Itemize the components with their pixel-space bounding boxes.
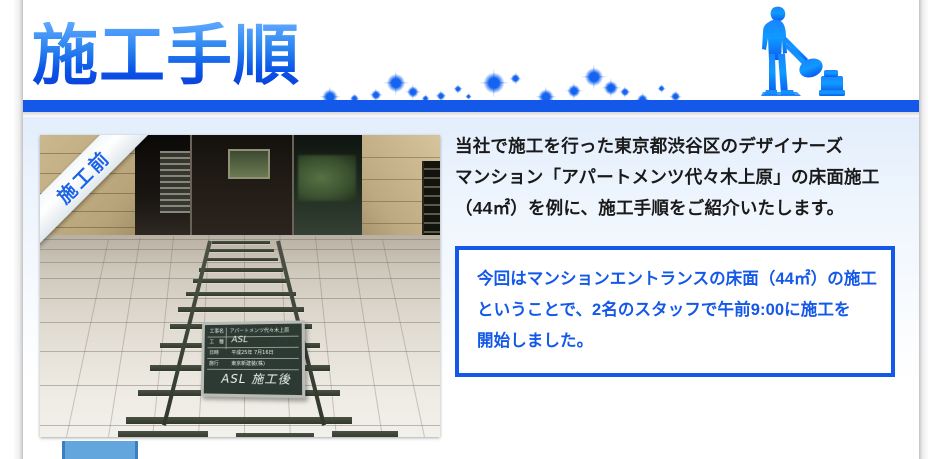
sparkle-star-icon [509, 72, 522, 85]
sparkle-star-icon [453, 84, 463, 94]
sparkle-star-icon [601, 78, 621, 98]
blackboard-label-koujimei: 工事名 [209, 327, 223, 338]
page-right-edge-shadow [920, 0, 942, 459]
sparkle-star-icon [657, 84, 666, 93]
before-photo[interactable]: 工事名 アパートメンツ代々木上原 工 種 ASL 日時 平成25年 7月16日 … [40, 135, 440, 437]
lead-paragraph: 当社で施工を行った東京都渋谷区のデザイナーズ マンション「アパートメンツ代々木上… [455, 131, 895, 224]
callout-line-3: 開始しました。 [477, 326, 875, 357]
photo-mailbox-grille [422, 161, 440, 243]
page-title: 施工手順 [32, 22, 300, 88]
page-header: 施工手順 [23, 0, 919, 122]
photo-stairs [160, 151, 190, 213]
callout-line-1: 今回はマンションエントランスの床面（44㎡）の施工 [477, 264, 875, 295]
blackboard-value-nichiji: 平成25年 7月16日 [231, 348, 273, 359]
sparkle-star-icon [619, 86, 631, 98]
next-section-tab[interactable] [62, 441, 138, 459]
page-right-rule [919, 0, 920, 459]
lead-line-2: マンション「アパートメンツ代々木上原」の床面施工 [455, 162, 895, 193]
blackboard-label-koushu: 工 種 [209, 337, 224, 348]
page-root: 施工手順 [0, 0, 942, 459]
sparkle-star-icon [405, 84, 421, 100]
worker-with-floor-polisher-silhouette [729, 4, 849, 108]
blackboard-label-nichiji: 日時 [209, 348, 219, 359]
callout-box: 今回はマンションエントランスの床面（44㎡）の施工 ということで、2名のスタッフ… [455, 246, 895, 377]
blackboard-label-sekou: 施行 [209, 359, 219, 370]
construction-blackboard: 工事名 アパートメンツ代々木上原 工 種 ASL 日時 平成25年 7月16日 … [201, 320, 305, 398]
photo-window [228, 149, 270, 179]
text-column: 当社で施工を行った東京都渋谷区のデザイナーズ マンション「アパートメンツ代々木上… [455, 131, 895, 377]
photo-canvas: 工事名 アパートメンツ代々木上原 工 種 ASL 日時 平成25年 7月16日 … [40, 135, 440, 437]
lead-line-3: （44㎡）を例に、施工手順をご紹介いたします。 [455, 193, 895, 224]
lead-line-1: 当社で施工を行った東京都渋谷区のデザイナーズ [455, 131, 895, 162]
blackboard-value-koushu: ASL [231, 335, 248, 346]
photo-greenery [298, 155, 356, 201]
blackboard-caption: ASL 施工後 [221, 374, 291, 386]
page-left-edge-shadow [0, 0, 22, 459]
sparkle-star-icon [479, 68, 509, 98]
callout-line-2: ということで、2名のスタッフで午前9:00に施工を [477, 295, 875, 326]
blackboard-value-sekou: 東京新建装(株) [231, 359, 265, 370]
sparkle-star-icon [465, 93, 472, 100]
header-accent-rule [23, 100, 919, 112]
content-area: 工事名 アパートメンツ代々木上原 工 種 ASL 日時 平成25年 7月16日 … [23, 117, 919, 459]
